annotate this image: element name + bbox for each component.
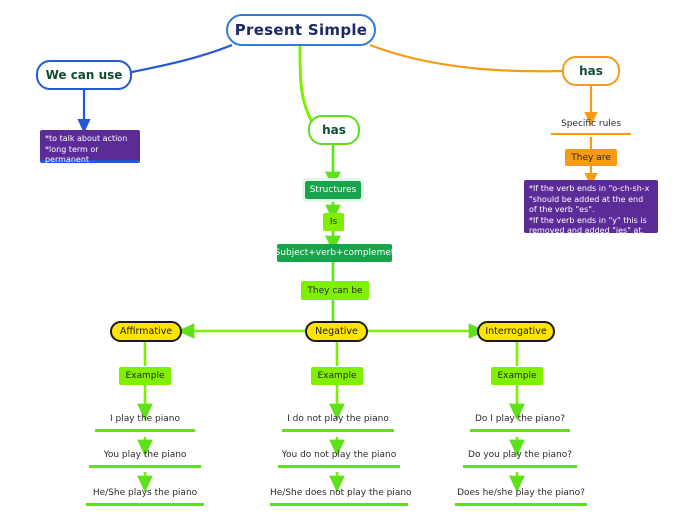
edge-root-to-has-rules	[370, 45, 562, 71]
node-has-rules[interactable]: has	[562, 56, 620, 86]
node-we-can-use[interactable]: We can use	[36, 60, 132, 90]
concept-map-canvas: Present Simple We can use *to talk about…	[0, 0, 696, 520]
root-node-present-simple[interactable]: Present Simple	[226, 14, 376, 46]
leaf-negative-sentence-3[interactable]: He/She does not play the piano	[270, 488, 408, 506]
note-specific-rules-detail[interactable]: *If the verb ends in "o-ch-sh-x "should …	[524, 180, 658, 233]
leaf-interrogative-sentence-1[interactable]: Do I play the piano?	[470, 414, 570, 432]
node-formula[interactable]: Subject+verb+complemet	[277, 244, 392, 262]
leaf-affirmative-sentence-1[interactable]: I play the piano	[95, 414, 195, 432]
node-form-negative[interactable]: Negative	[305, 321, 368, 342]
leaf-negative-sentence-1[interactable]: I do not play the piano	[282, 414, 394, 432]
edge-root-to-we-can-use	[122, 45, 232, 74]
node-example-negative[interactable]: Example	[311, 367, 363, 385]
node-they-are[interactable]: They are	[565, 149, 617, 166]
node-is[interactable]: Is	[323, 213, 344, 231]
node-form-affirmative[interactable]: Affirmative	[110, 321, 182, 342]
leaf-interrogative-sentence-2[interactable]: Do you play the piano?	[463, 450, 577, 468]
node-they-can-be[interactable]: They can be	[301, 281, 369, 300]
leaf-negative-sentence-2[interactable]: You do not play the piano	[278, 450, 400, 468]
node-example-interrogative[interactable]: Example	[491, 367, 543, 385]
node-example-affirmative[interactable]: Example	[119, 367, 171, 385]
edge-root-to-has-structures	[300, 46, 312, 122]
leaf-affirmative-sentence-2[interactable]: You play the piano	[89, 450, 201, 468]
label-specific-rules[interactable]: Specific rules	[551, 119, 631, 135]
leaf-affirmative-sentence-3[interactable]: He/She plays the piano	[86, 488, 204, 506]
node-form-interrogative[interactable]: Interrogative	[477, 321, 555, 342]
node-has-structures[interactable]: has	[308, 115, 360, 145]
leaf-interrogative-sentence-3[interactable]: Does he/she play the piano?	[455, 488, 587, 506]
note-we-can-use-detail[interactable]: *to talk about action*long term or perma…	[40, 130, 140, 163]
node-structures[interactable]: Structures	[305, 181, 361, 199]
